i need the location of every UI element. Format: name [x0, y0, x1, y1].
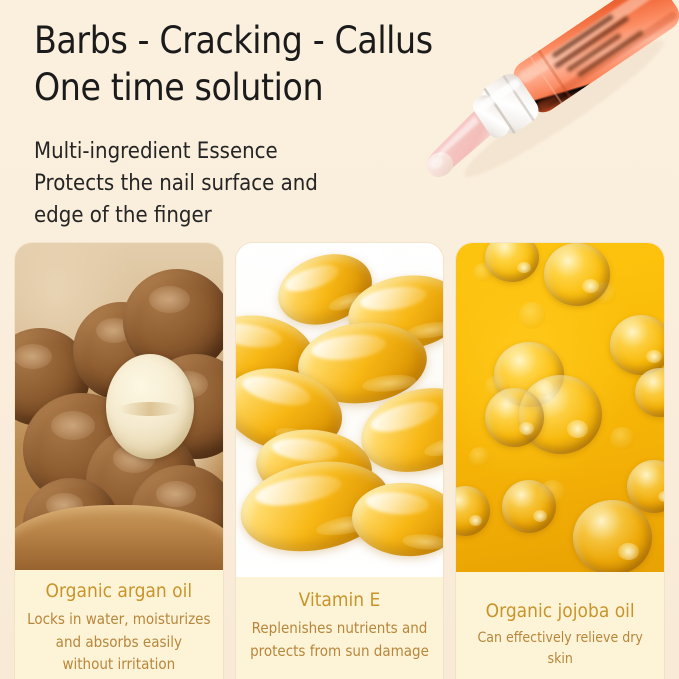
product-infographic: Barbs - Cracking - Callus One time solut…: [0, 0, 679, 679]
card-desc-jojoba-line-1: Can effectively relieve dry skin: [464, 628, 656, 671]
ingredient-card-jojoba-oil[interactable]: Organic jojoba oil Can effectively relie…: [456, 243, 664, 679]
card-body-argan: Organic argan oil Locks in water, moistu…: [15, 570, 223, 676]
headline-line-2: One time solution: [34, 65, 554, 112]
hero-section: Barbs - Cracking - Callus One time solut…: [0, 0, 679, 238]
page-subtitle: Multi-ingredient Essence Protects the na…: [34, 136, 434, 232]
card-title-vitamin-e: Vitamin E: [244, 589, 436, 612]
jojoba-oil-bubbles-image: [456, 243, 664, 572]
card-desc-argan-line-2: and absorbs easily: [23, 631, 215, 654]
page-title: Barbs - Cracking - Callus One time solut…: [34, 18, 554, 111]
ingredient-card-list: Organic argan oil Locks in water, moistu…: [0, 243, 679, 679]
card-desc-vitamin-e-line-1: Replenishes nutrients and: [244, 617, 436, 640]
card-desc-argan-line-1: Locks in water, moisturizes: [23, 608, 215, 631]
ingredient-card-argan-oil[interactable]: Organic argan oil Locks in water, moistu…: [15, 243, 223, 679]
card-title-argan: Organic argan oil: [23, 580, 215, 603]
subtitle-line-1: Multi-ingredient Essence: [34, 136, 434, 168]
ingredient-card-vitamin-e[interactable]: Vitamin E Replenishes nutrients and prot…: [236, 243, 444, 679]
card-desc-vitamin-e-line-2: protects from sun damage: [244, 640, 436, 663]
card-body-jojoba: Organic jojoba oil Can effectively relie…: [456, 572, 664, 670]
macadamia-argan-nuts-image: [15, 243, 223, 570]
subtitle-line-3: edge of the finger: [34, 200, 434, 232]
vitamin-e-softgel-capsules-image: [236, 243, 444, 577]
card-title-jojoba: Organic jojoba oil: [464, 600, 656, 623]
subtitle-line-2: Protects the nail surface and: [34, 168, 434, 200]
card-desc-argan-line-3: without irritation: [23, 653, 215, 676]
card-body-vitamin-e: Vitamin E Replenishes nutrients and prot…: [236, 577, 444, 662]
headline-line-1: Barbs - Cracking - Callus: [34, 18, 554, 65]
